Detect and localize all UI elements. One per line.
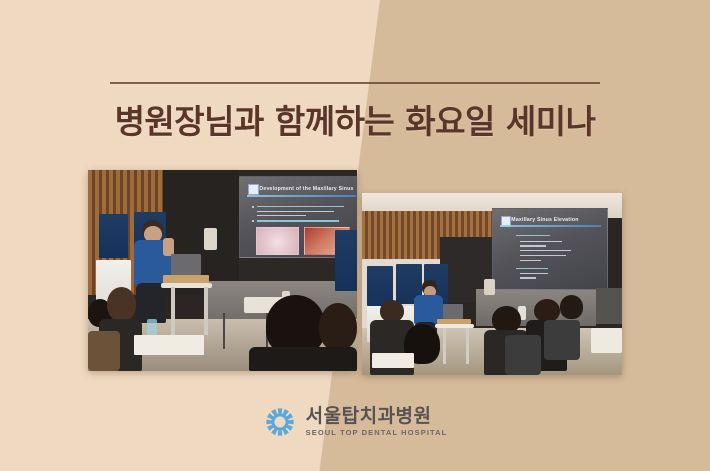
laptop-screen <box>171 254 201 274</box>
handout-papers <box>372 353 414 368</box>
air-purifier <box>484 279 494 295</box>
chair <box>505 335 541 375</box>
equipment-cabinet <box>596 288 622 324</box>
attendee-head <box>560 295 583 319</box>
slide-title-left: Development of the Maxillary Sinus <box>259 186 353 192</box>
laptop-screen <box>443 304 464 319</box>
attendee-head <box>534 299 560 323</box>
slide-text-line <box>520 241 561 242</box>
slide-text-line <box>257 206 344 207</box>
slide-text-line <box>520 255 566 256</box>
table-leg <box>223 313 226 349</box>
handout-papers <box>134 335 204 355</box>
podium-leg <box>171 287 175 335</box>
slide-title-right: Maxillary Sinus Elevation <box>511 217 578 223</box>
slide-text-line <box>257 211 334 212</box>
podium-leg <box>443 328 446 364</box>
laptop-keyboard <box>163 275 209 283</box>
title-divider-rule <box>110 82 600 84</box>
page-title: 병원장님과 함께하는 화요일 세미나 <box>0 95 710 143</box>
podium-leg <box>466 328 469 364</box>
brand-name-korean: 서울탑치과병원 <box>306 407 448 427</box>
attendee-head <box>107 287 137 321</box>
slide-image-anatomy <box>256 227 299 256</box>
slide-text-line <box>520 260 541 261</box>
slide-text-line <box>520 273 547 274</box>
seminar-photo-right: Maxillary Sinus Elevation <box>362 193 622 375</box>
air-purifier <box>204 228 217 250</box>
wall-poster <box>335 230 357 290</box>
slide-text-line <box>520 250 570 251</box>
projection-screen-right: Maxillary Sinus Elevation <box>492 208 608 290</box>
photo-left-scene: Development of the Maxillary Sinus <box>88 170 357 371</box>
attendee-head-foreground <box>266 295 325 355</box>
wall-poster <box>99 214 129 258</box>
slide-logo <box>248 184 259 195</box>
slide-underline <box>247 195 356 197</box>
attendee-body <box>249 347 357 371</box>
slide-bullet <box>252 206 254 208</box>
starburst-circle-icon <box>263 405 297 439</box>
podium-leg <box>204 287 208 335</box>
photo-right-scene: Maxillary Sinus Elevation <box>362 193 622 375</box>
side-table <box>591 328 622 353</box>
attendee-head <box>380 300 403 322</box>
lecturer-trousers <box>136 283 166 323</box>
brand-logo-text: 서울탑치과병원 SEOUL TOP DENTAL HOSPITAL <box>306 407 448 437</box>
attendee-head <box>319 303 357 351</box>
slide-text-line <box>257 220 339 221</box>
slide-text-line <box>520 277 536 278</box>
seminar-photo-left: Development of the Maxillary Sinus <box>88 170 357 371</box>
slide-text-line <box>257 215 306 216</box>
slide-underline <box>500 225 601 227</box>
chair <box>544 320 580 360</box>
chair <box>88 331 120 371</box>
slide-text-line <box>516 268 548 269</box>
brand-logo: 서울탑치과병원 SEOUL TOP DENTAL HOSPITAL <box>0 405 710 439</box>
seminar-poster: 병원장님과 함께하는 화요일 세미나 Development of the Ma… <box>0 0 710 471</box>
brand-name-english: SEOUL TOP DENTAL HOSPITAL <box>306 429 448 437</box>
slide-bullet <box>252 220 254 222</box>
slide-text-line <box>516 235 550 236</box>
slide-text-line <box>520 245 545 246</box>
